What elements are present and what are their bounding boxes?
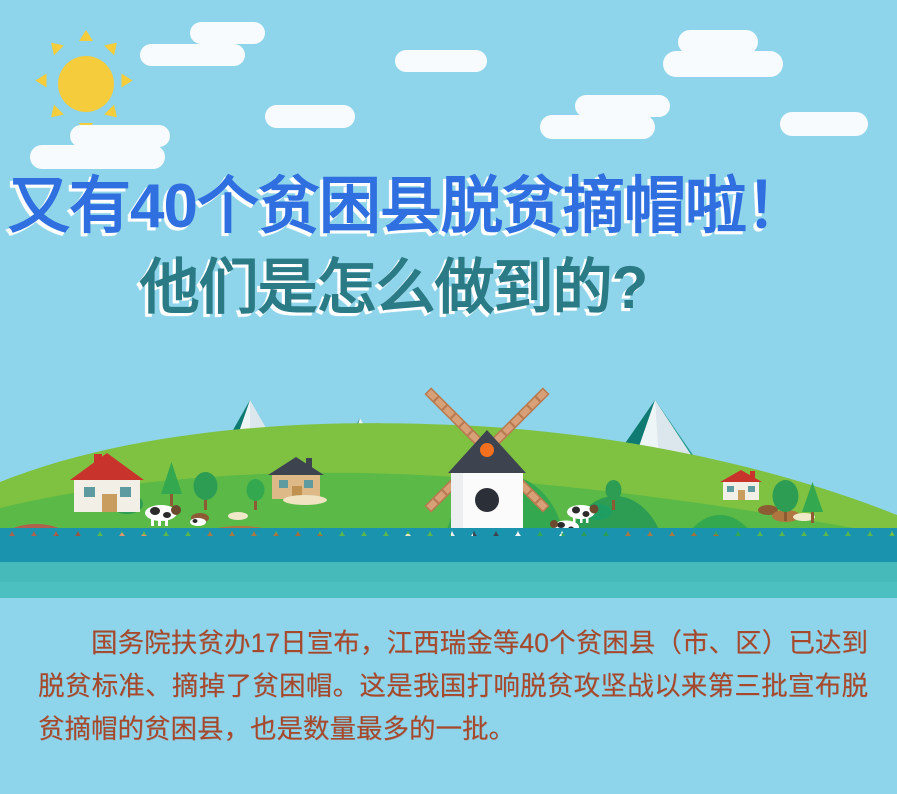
landscape-illustration [0,370,897,545]
sun-ray [104,105,122,123]
cloud-puff [540,115,655,139]
sun-ray [36,74,47,88]
water-band-mid [0,562,897,584]
cloud-icon [540,95,670,141]
house-door [738,490,745,500]
wave-edge [0,528,897,546]
sun-ray [122,74,133,88]
cloud-puff [140,44,245,66]
cloud-puff [70,125,170,147]
cloud-icon [190,22,320,72]
house-window [279,480,288,488]
sun-core [58,56,114,112]
page-title-line1: 又有40个贫困县脱贫摘帽啦！ [0,176,897,238]
house-window [84,487,95,497]
page-title-line2: 他们是怎么做到的? [0,258,897,318]
pebble-white [228,512,248,520]
cloud-puff [395,50,487,72]
sun-ray [46,38,64,56]
cloud-puff [265,105,355,128]
house-chimney [750,471,755,479]
house-window [727,486,734,492]
cloud-icon [30,125,180,171]
house-window [120,487,131,497]
cloud-puff [575,95,670,117]
cloud-icon [780,112,875,136]
tree-trunk [170,492,173,506]
body-text-block: 国务院扶贫办17日宣布，江西瑞金等40个贫困县（市、区）已达到脱贫标准、摘掉了贫… [38,622,868,751]
body-paragraph: 国务院扶贫办17日宣布，江西瑞金等40个贫困县（市、区）已达到脱贫标准、摘掉了贫… [38,622,868,751]
house-window [748,486,755,492]
house-ground [283,495,327,505]
title-block: 又有40个贫困县脱贫摘帽啦！ 他们是怎么做到的? [0,176,897,318]
sun-icon [32,30,140,138]
windmill-window [475,488,499,512]
tree-round [773,480,799,512]
sun-ray [46,105,64,123]
cloud-puff [663,51,783,77]
tree-round [194,472,218,500]
sun-ray [79,30,93,41]
cloud-icon [395,50,490,74]
cloud-icon [265,105,360,129]
poster-canvas: 又有40个贫困县脱贫摘帽啦！ 他们是怎么做到的? [0,0,897,794]
tree-round [606,480,622,500]
tree-round [247,479,265,501]
sun-ray [104,38,122,56]
cloud-icon [663,30,803,78]
house-chimney [94,454,102,468]
cow [190,518,206,526]
water-band-light [0,582,897,598]
windmill-hub [480,443,494,457]
cloud-puff [780,112,868,136]
house-window [304,480,313,488]
cloud-puff [190,22,265,44]
house-door [102,494,117,512]
house-chimney [306,458,312,469]
cloud-puff [30,145,165,169]
